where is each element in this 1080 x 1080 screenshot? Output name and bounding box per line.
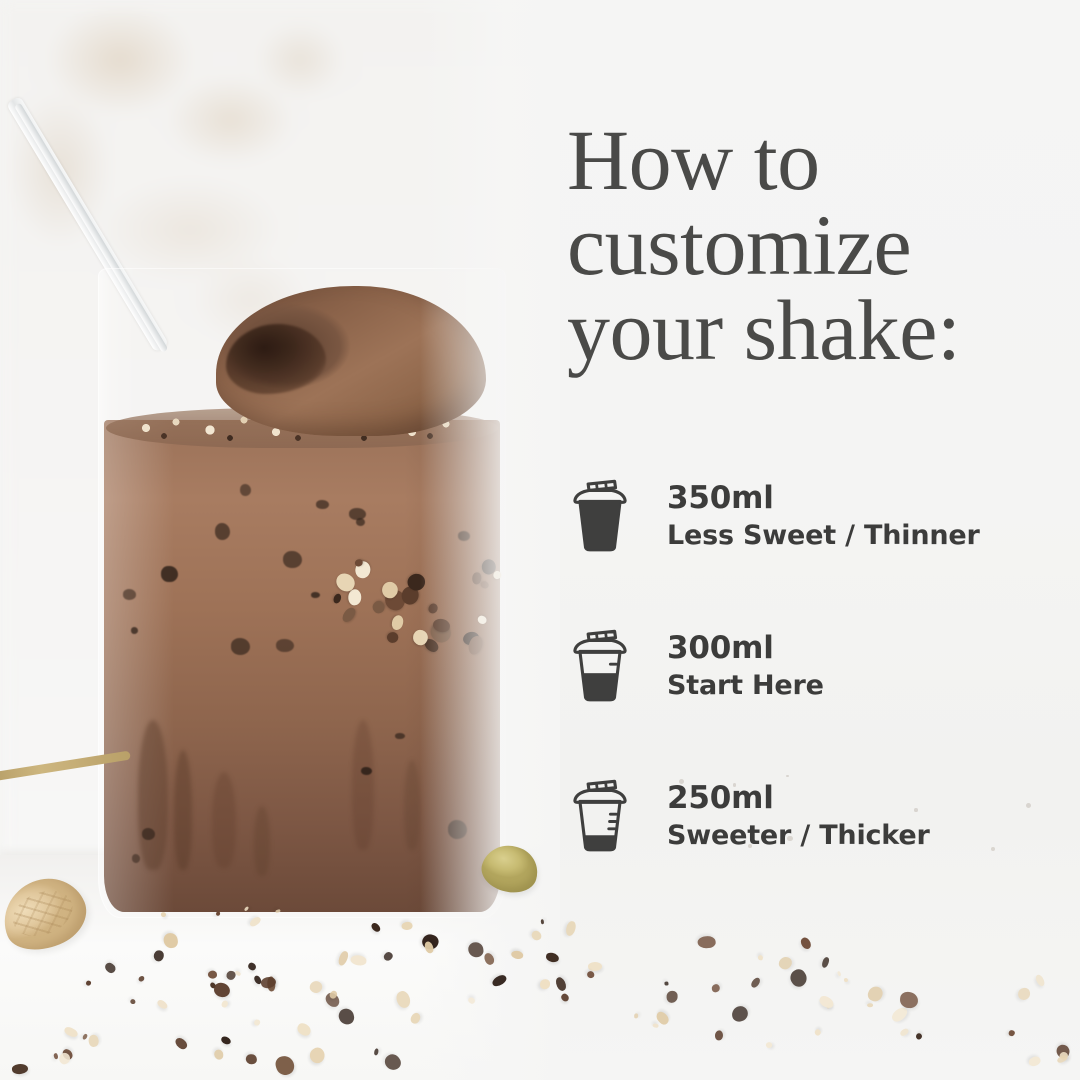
shaker-bottle-icon bbox=[567, 474, 633, 558]
option-volume: 300ml bbox=[667, 631, 824, 665]
volume-option-300ml[interactable]: 300ml Start Here bbox=[567, 616, 1037, 716]
volume-option-350ml[interactable]: 350ml Less Sweet / Thinner bbox=[567, 466, 1037, 566]
option-text: 300ml Start Here bbox=[667, 631, 824, 700]
headline-line-3: your shake: bbox=[567, 288, 1037, 373]
volume-option-250ml[interactable]: 250ml Sweeter / Thicker bbox=[567, 766, 1037, 866]
page-title: How to customize your shake: bbox=[567, 118, 1037, 373]
shake-customization-graphic: How to customize your shake: 350ml Less … bbox=[0, 0, 1080, 1080]
option-volume: 250ml bbox=[667, 781, 930, 815]
headline-line-2: customize bbox=[567, 203, 1037, 288]
option-text: 250ml Sweeter / Thicker bbox=[667, 781, 930, 850]
option-volume: 350ml bbox=[667, 481, 980, 515]
drinking-glass bbox=[98, 268, 506, 918]
volume-options-list: 350ml Less Sweet / Thinner 300ml Start H… bbox=[567, 466, 1037, 866]
shake-photo bbox=[0, 0, 560, 1080]
shaker-bottle-icon bbox=[567, 774, 633, 858]
headline-line-1: How to bbox=[567, 118, 1037, 203]
gold-spoon bbox=[0, 768, 142, 790]
glass-body bbox=[98, 268, 506, 918]
option-description: Less Sweet / Thinner bbox=[667, 520, 980, 551]
shaker-bottle-icon bbox=[567, 624, 633, 708]
option-description: Sweeter / Thicker bbox=[667, 820, 930, 851]
shake-liquid bbox=[104, 420, 500, 912]
option-description: Start Here bbox=[667, 670, 824, 701]
option-text: 350ml Less Sweet / Thinner bbox=[667, 481, 980, 550]
